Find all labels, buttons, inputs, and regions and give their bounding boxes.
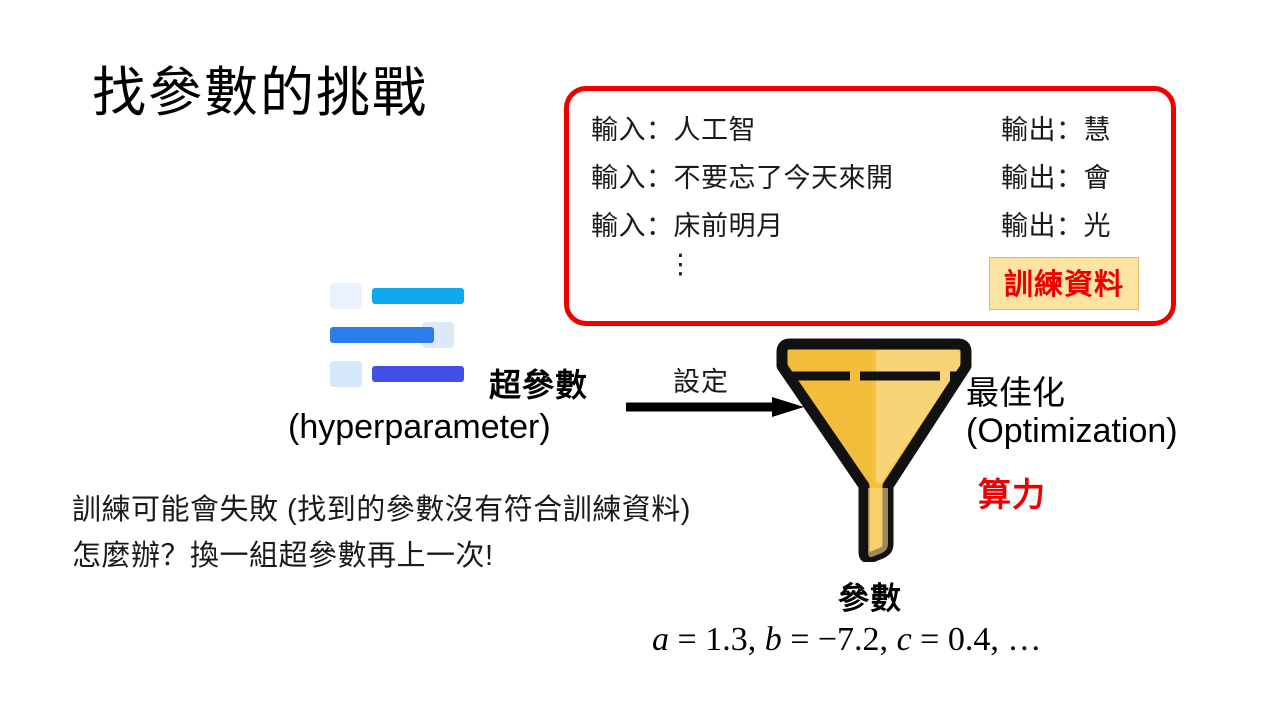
formula-var-a: a bbox=[652, 621, 669, 658]
row-input-text: 輸入：不要忘了今天來開 bbox=[591, 156, 894, 195]
training-data-box: 輸入：人工智 輸出：慧 輸入：不要忘了今天來開 輸出：會 輸入：床前明月 輸出：… bbox=[564, 86, 1176, 326]
parameters-label: 參數 bbox=[838, 573, 902, 618]
formula-eq-3: = bbox=[912, 621, 948, 658]
optimization-label-cn: 最佳化 bbox=[966, 366, 1065, 414]
row-output-text: 輸出：慧 bbox=[1001, 108, 1111, 147]
formula-val-a: 1.3, bbox=[705, 621, 765, 658]
formula-var-c: c bbox=[897, 621, 912, 658]
hyperparameter-label-en: (hyperparameter) bbox=[288, 408, 551, 447]
slider-row bbox=[330, 361, 464, 387]
note-line-1: 訓練可能會失敗 (找到的參數沒有符合訓練資料) bbox=[72, 486, 691, 528]
formula-eq-2: = bbox=[782, 621, 818, 658]
table-row: 輸入：不要忘了今天來開 輸出：會 bbox=[569, 156, 1171, 190]
set-arrow-label: 設定 bbox=[673, 360, 729, 399]
slider-bar bbox=[372, 366, 464, 382]
formula-var-b: b bbox=[765, 621, 782, 658]
row-input-text: 輸入：人工智 bbox=[591, 108, 756, 147]
table-row: 輸入：床前明月 輸出：光 bbox=[569, 204, 1171, 238]
row-input-text: 輸入：床前明月 bbox=[591, 204, 784, 243]
optimization-label-en: (Optimization) bbox=[966, 412, 1178, 451]
compute-power-label: 算力 bbox=[978, 468, 1046, 516]
formula-val-c: 0.4, … bbox=[948, 621, 1042, 658]
parameters-formula: a = 1.3, b = −7.2, c = 0.4, … bbox=[652, 621, 1041, 659]
slider-knob bbox=[330, 283, 362, 309]
page-title: 找參數的挑戰 bbox=[92, 64, 428, 123]
formula-val-b: −7.2, bbox=[818, 621, 897, 658]
vertical-ellipsis-icon: ⋮ bbox=[667, 251, 694, 278]
slider-row bbox=[330, 283, 464, 309]
slider-row bbox=[330, 322, 464, 348]
row-output-text: 輸出：會 bbox=[1001, 156, 1111, 195]
funnel-icon bbox=[776, 336, 972, 562]
slider-bar bbox=[330, 327, 434, 343]
row-output-text: 輸出：光 bbox=[1001, 204, 1111, 243]
table-row: 輸入：人工智 輸出：慧 bbox=[569, 108, 1171, 142]
slide-canvas: 找參數的挑戰 輸入：人工智 輸出：慧 輸入：不要忘了今天來開 輸出：會 輸入：床… bbox=[0, 0, 1278, 720]
note-line-2: 怎麼辦？換一組超參數再上一次! bbox=[72, 532, 494, 574]
slider-bar bbox=[372, 288, 464, 304]
hyperparameter-label-cn: 超參數 bbox=[489, 360, 588, 406]
status-badge: 訓練資料 bbox=[989, 257, 1139, 310]
formula-eq-1: = bbox=[669, 621, 705, 658]
slider-knob bbox=[330, 361, 362, 387]
sliders-icon bbox=[330, 283, 464, 387]
